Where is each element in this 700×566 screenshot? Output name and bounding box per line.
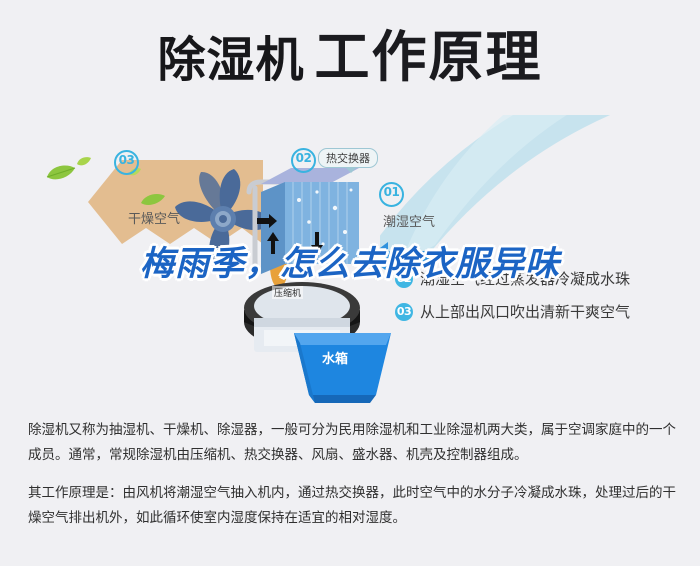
badge-02-heat-exchanger: 02 <box>291 148 316 173</box>
page-title: 除湿机工作原理 <box>0 30 700 85</box>
step-badge: 03 <box>395 303 413 321</box>
bubble-heat-exchanger: 热交换器 <box>318 148 378 168</box>
body-paragraph-1: 除湿机又称为抽湿机、干燥机、除湿器，一般可分为民用除湿机和工业除湿机两大类，属于… <box>28 418 676 468</box>
dehumidifier-working-principle-infographic: 除湿机工作原理 <box>0 0 700 566</box>
badge-03-dry-air: 03 <box>114 150 139 175</box>
leaf-icon <box>76 152 92 171</box>
page-title-part1: 除湿机 <box>157 32 304 88</box>
label-compressor: 压缩机 <box>272 286 303 299</box>
body-paragraph-2: 其工作原理是：由风机将潮湿空气抽入机内，通过热交换器，此时空气中的水分子冷凝成水… <box>28 481 676 531</box>
label-humid-air: 潮湿空气 <box>383 211 435 230</box>
step-item: 03 从上部出风口吹出清新干爽空气 <box>395 295 630 328</box>
leaf-icon <box>45 163 79 187</box>
body-copy: 除湿机又称为抽湿机、干燥机、除湿器，一般可分为民用除湿机和工业除湿机两大类，属于… <box>28 418 676 544</box>
label-dry-air: 干燥空气 <box>128 208 180 227</box>
overlay-headline: 梅雨季，怎么去除衣服异味 <box>95 247 605 282</box>
page-title-part2: 工作原理 <box>315 25 543 89</box>
step-text: 从上部出风口吹出清新干爽空气 <box>420 301 630 322</box>
label-water-tank: 水箱 <box>322 348 348 367</box>
badge-01-humid-air: 01 <box>379 182 404 207</box>
